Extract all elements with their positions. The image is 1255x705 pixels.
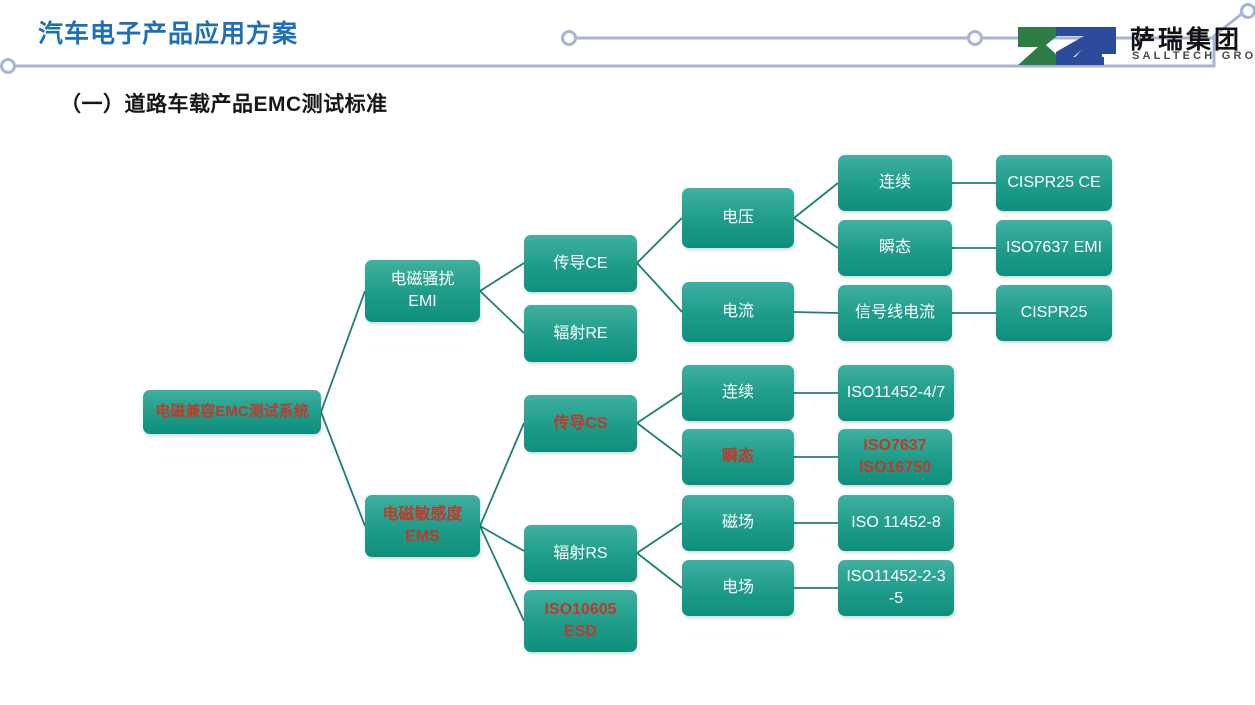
edge-current-signal [794, 312, 838, 313]
node-iso7637-iso16750[interactable]: ISO7637 ISO16750 [838, 429, 952, 485]
edge-emi-re [480, 291, 524, 333]
node-continuous-emi-label: 连续 [875, 172, 915, 194]
node-radiated-re-label: 辐射RE [549, 323, 611, 345]
node-continuous-emi[interactable]: 连续 [838, 155, 952, 211]
node-transient-emi[interactable]: 瞬态 [838, 220, 952, 276]
deco-circle-junction [969, 32, 982, 45]
deco-circle-left [2, 60, 15, 73]
node-cispr25[interactable]: CISPR25 [996, 285, 1112, 341]
edge-ems-cs [480, 423, 524, 526]
node-emi-label: 电磁骚扰 EMI [386, 269, 458, 312]
node-iso7637-emi[interactable]: ISO7637 EMI [996, 220, 1112, 276]
edge-ce-current [637, 263, 682, 312]
node-voltage[interactable]: 电压 [682, 188, 794, 248]
node-continuous-ems-label: 连续 [718, 382, 758, 404]
node-iso11452-2-3-5-label: ISO11452-2-3 -5 [842, 566, 949, 609]
node-iso11452-8-label: ISO 11452-8 [847, 512, 945, 534]
node-radiated-re[interactable]: 辐射RE [524, 305, 637, 362]
node-transient-emi-label: 瞬态 [875, 237, 915, 259]
edge-voltage-continuous [794, 183, 838, 218]
node-conducted-cs-label: 传导CS [549, 413, 611, 435]
node-ems-label: 电磁敏感度 EMS [378, 504, 466, 547]
node-emi[interactable]: 电磁骚扰 EMI [365, 260, 480, 322]
edge-voltage-transient [794, 218, 838, 248]
node-electric-field[interactable]: 电场 [682, 560, 794, 616]
edge-rs-electric [637, 553, 682, 588]
deco-circle-mid [563, 32, 576, 45]
node-current[interactable]: 电流 [682, 282, 794, 342]
page-header: 汽车电子产品应用方案 萨瑞集团 SALLTECH GROUP [0, 0, 1255, 90]
node-iso11452-8[interactable]: ISO 11452-8 [838, 495, 954, 551]
node-magnetic-field-label: 磁场 [718, 512, 758, 534]
node-iso11452-2-3-5[interactable]: ISO11452-2-3 -5 [838, 560, 954, 616]
node-continuous-ems[interactable]: 连续 [682, 365, 794, 421]
node-ems[interactable]: 电磁敏感度 EMS [365, 495, 480, 557]
node-radiated-rs[interactable]: 辐射RS [524, 525, 637, 582]
node-transient-ems-label: 瞬态 [718, 446, 758, 468]
node-conducted-ce[interactable]: 传导CE [524, 235, 637, 292]
node-esd[interactable]: ISO10605 ESD [524, 590, 637, 652]
salltech-logo-mark [1012, 24, 1122, 68]
node-esd-label: ISO10605 ESD [540, 599, 620, 642]
node-iso7637-iso16750-label: ISO7637 ISO16750 [855, 435, 935, 478]
node-transient-ems[interactable]: 瞬态 [682, 429, 794, 485]
deco-circle-right [1242, 5, 1255, 18]
edge-cs-transient [637, 423, 682, 457]
node-current-label: 电流 [718, 301, 758, 323]
node-cispr25-label: CISPR25 [1017, 302, 1092, 324]
logo-blue-bar [1064, 57, 1104, 65]
logo-company-name-en: SALLTECH GROUP [1132, 50, 1255, 62]
edge-ce-voltage [637, 218, 682, 263]
node-radiated-rs-label: 辐射RS [549, 543, 611, 565]
edge-rs-magnetic [637, 523, 682, 553]
node-iso7637-emi-label: ISO7637 EMI [1002, 237, 1106, 259]
node-conducted-cs[interactable]: 传导CS [524, 395, 637, 452]
node-root-label: 电磁兼容EMC测试系统 [151, 402, 312, 422]
page-title: 汽车电子产品应用方案 [38, 14, 298, 50]
edge-emi-ce [480, 263, 524, 291]
edge-ems-esd [480, 526, 524, 621]
node-signal-line-current-label: 信号线电流 [851, 302, 939, 324]
node-iso11452-4-7[interactable]: ISO11452-4/7 [838, 365, 954, 421]
node-magnetic-field[interactable]: 磁场 [682, 495, 794, 551]
company-logo: 萨瑞集团 SALLTECH GROUP [1012, 22, 1242, 70]
edge-cs-continuous [637, 393, 682, 423]
node-electric-field-label: 电场 [718, 577, 758, 599]
section-subtitle: （一）道路车载产品EMC测试标准 [60, 88, 388, 118]
node-iso11452-4-7-label: ISO11452-4/7 [843, 382, 949, 404]
emc-test-tree-diagram: 电磁兼容EMC测试系统 电磁骚扰 EMI 电磁敏感度 EMS 传导CE 辐射RE… [0, 130, 1255, 690]
node-conducted-ce-label: 传导CE [549, 253, 611, 275]
node-root[interactable]: 电磁兼容EMC测试系统 [143, 390, 321, 434]
edge-root-emi [321, 291, 365, 412]
node-cispr25-ce-label: CISPR25 CE [1003, 172, 1104, 194]
node-signal-line-current[interactable]: 信号线电流 [838, 285, 952, 341]
node-cispr25-ce[interactable]: CISPR25 CE [996, 155, 1112, 211]
edge-root-ems [321, 412, 365, 526]
node-voltage-label: 电压 [718, 207, 758, 229]
